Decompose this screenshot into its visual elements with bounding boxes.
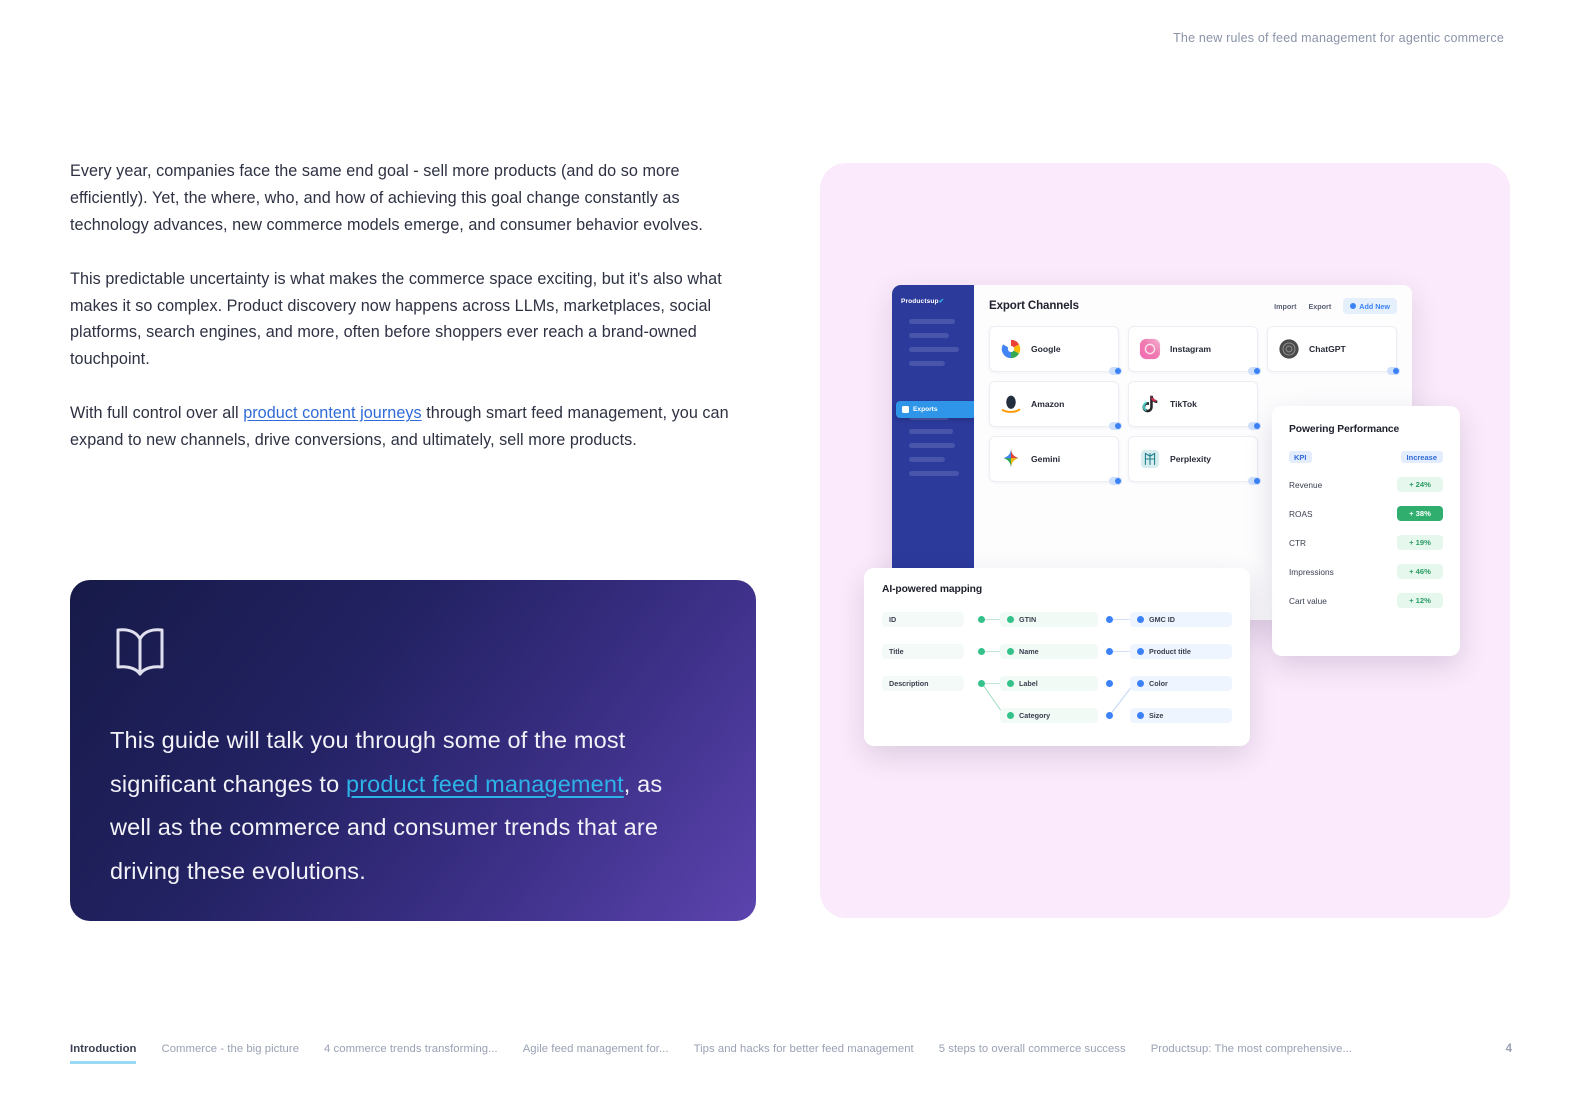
mapping-source-label: Title [889, 647, 904, 656]
performance-row: Cart value + 12% [1289, 593, 1443, 608]
mapping-row: Description Label Color [882, 676, 1232, 691]
mapping-dot-icon [1106, 712, 1113, 719]
channel-toggle[interactable] [1248, 367, 1261, 375]
google-icon [1000, 338, 1022, 360]
mapping-card: AI-powered mapping ID GTIN GMC ID [864, 568, 1250, 746]
paragraph-3-before: With full control over all [70, 404, 243, 422]
mapping-dot-icon [1137, 712, 1144, 719]
exports-icon [902, 406, 909, 413]
mapping-middle: Category [1000, 708, 1098, 723]
mapping-grid: ID GTIN GMC ID Title Name Product title … [882, 612, 1232, 722]
sidebar-nav-stub[interactable] [909, 333, 949, 338]
productsup-logo: Productsup✔ [901, 297, 965, 305]
mapping-target: Size [1130, 708, 1232, 723]
import-button[interactable]: Import [1274, 302, 1296, 311]
mapping-dot-icon [978, 648, 985, 655]
sidebar-nav-stub[interactable] [909, 443, 955, 448]
channel-label: TikTok [1170, 399, 1197, 409]
channel-label: Google [1031, 344, 1061, 354]
channel-card-perplexity[interactable]: Perplexity [1128, 436, 1258, 482]
column-header-kpi: KPI [1289, 451, 1312, 463]
chatgpt-icon [1278, 338, 1300, 360]
metric-label: Revenue [1289, 480, 1322, 490]
paragraph-2: This predictable uncertainty is what mak… [70, 266, 760, 374]
channel-toggle[interactable] [1109, 367, 1122, 375]
channel-card-google[interactable]: Google [989, 326, 1119, 372]
channel-card-gemini[interactable]: Gemini [989, 436, 1119, 482]
metric-label: Cart value [1289, 596, 1327, 606]
channel-label: Gemini [1031, 454, 1060, 464]
paragraph-3: With full control over all product conte… [70, 400, 760, 454]
metric-value-badge: + 46% [1397, 564, 1443, 579]
metric-label: CTR [1289, 538, 1306, 548]
performance-row: CTR + 19% [1289, 535, 1443, 550]
mapping-dot-icon [1106, 648, 1113, 655]
channel-toggle[interactable] [1387, 367, 1400, 375]
bottom-navigation: Introduction Commerce - the big picture … [70, 1043, 1512, 1064]
mapping-dot-icon [1137, 616, 1144, 623]
mapping-row: ID GTIN GMC ID [882, 612, 1232, 627]
nav-tab-commerce-trends[interactable]: 4 commerce trends transforming... [324, 1043, 498, 1061]
sidebar-nav-stub[interactable] [909, 457, 945, 462]
column-header-increase: Increase [1401, 451, 1443, 463]
paragraph-1: Every year, companies face the same end … [70, 158, 760, 239]
mapping-dot-icon [1007, 616, 1014, 623]
channel-label: ChatGPT [1309, 344, 1346, 354]
nav-tab-introduction[interactable]: Introduction [70, 1043, 136, 1064]
guide-callout-card: This guide will talk you through some of… [70, 580, 756, 921]
mapping-source: Description [882, 676, 964, 691]
mapping-dot-icon [978, 616, 985, 623]
plus-icon [1350, 303, 1356, 309]
performance-title: Powering Performance [1289, 424, 1443, 435]
nav-tab-tips-and-hacks[interactable]: Tips and hacks for better feed managemen… [694, 1043, 914, 1061]
mapping-target: Product title [1130, 644, 1232, 659]
dashboard-header: Export Channels Import Export Add New [989, 298, 1397, 314]
mapping-row: Category Size [882, 708, 1232, 723]
callout-text: This guide will talk you through some of… [110, 719, 708, 894]
channel-card-tiktok[interactable]: TikTok [1128, 381, 1258, 427]
mapping-source-label: ID [889, 615, 896, 624]
mapping-target: GMC ID [1130, 612, 1232, 627]
mapping-middle-label: Name [1019, 647, 1039, 656]
mapping-source-label: Description [889, 679, 929, 688]
nav-tab-commerce-big-picture[interactable]: Commerce - the big picture [161, 1043, 299, 1061]
tiktok-icon [1139, 393, 1161, 415]
mapping-middle: Label [1000, 676, 1098, 691]
open-book-icon [112, 626, 168, 678]
mapping-target: Color [1130, 676, 1232, 691]
performance-row: ROAS + 38% [1289, 506, 1443, 521]
channel-label: Instagram [1170, 344, 1211, 354]
mapping-dot-icon [1137, 648, 1144, 655]
nav-tab-productsup[interactable]: Productsup: The most comprehensive... [1151, 1043, 1352, 1061]
channel-toggle[interactable] [1248, 422, 1261, 430]
document-page: The new rules of feed management for age… [0, 0, 1582, 1102]
mapping-dot-icon [1007, 680, 1014, 687]
mapping-target-label: Product title [1149, 647, 1191, 656]
nav-tab-agile-feed-management[interactable]: Agile feed management for... [523, 1043, 669, 1061]
perplexity-icon [1139, 448, 1161, 470]
channel-toggle[interactable] [1109, 477, 1122, 485]
mapping-row: Title Name Product title [882, 644, 1232, 659]
metric-value-badge: + 38% [1397, 506, 1443, 521]
performance-table-header: KPI Increase [1289, 451, 1443, 463]
metric-value-badge: + 12% [1397, 593, 1443, 608]
sidebar-nav-stub[interactable] [909, 319, 955, 324]
mapping-middle-label: GTIN [1019, 615, 1036, 624]
body-text-column: Every year, companies face the same end … [70, 158, 760, 454]
sidebar-nav-stub[interactable] [909, 361, 945, 366]
nav-tab-five-steps[interactable]: 5 steps to overall commerce success [939, 1043, 1126, 1061]
channel-toggle[interactable] [1109, 422, 1122, 430]
mapping-dot-icon [1106, 680, 1113, 687]
illustration-panel: Productsup✔ Exports Export C [820, 163, 1510, 918]
mapping-middle: Name [1000, 644, 1098, 659]
performance-row: Impressions + 46% [1289, 564, 1443, 579]
metric-label: Impressions [1289, 567, 1334, 577]
amazon-icon [1000, 393, 1022, 415]
dashboard-actions: Import Export Add New [1274, 298, 1397, 314]
mapping-connector-lines [882, 612, 1232, 722]
metric-label: ROAS [1289, 509, 1313, 519]
channel-card-chatgpt[interactable]: ChatGPT [1267, 326, 1397, 372]
mapping-dot-icon [1007, 712, 1014, 719]
gemini-icon [1000, 448, 1022, 470]
product-content-journeys-link[interactable]: product content journeys [243, 404, 421, 422]
sidebar-nav-stub[interactable] [909, 429, 953, 434]
channel-label: Perplexity [1170, 454, 1211, 464]
dashboard-title: Export Channels [989, 300, 1079, 312]
channel-card-instagram[interactable]: Instagram [1128, 326, 1258, 372]
export-button[interactable]: Export [1308, 302, 1331, 311]
performance-card: Powering Performance KPI Increase Revenu… [1272, 406, 1460, 656]
mapping-target-label: Size [1149, 711, 1163, 720]
mapping-target-label: GMC ID [1149, 615, 1175, 624]
logo-mark-icon: ✔ [939, 298, 945, 305]
mapping-middle-label: Label [1019, 679, 1038, 688]
channel-toggle[interactable] [1248, 477, 1261, 485]
sidebar-nav-stub[interactable] [909, 347, 959, 352]
add-new-button[interactable]: Add New [1343, 298, 1397, 314]
metric-value-badge: + 24% [1397, 477, 1443, 492]
performance-row: Revenue + 24% [1289, 477, 1443, 492]
mapping-source: Title [882, 644, 964, 659]
mapping-middle-label: Category [1019, 711, 1050, 720]
mapping-dot-icon [1137, 680, 1144, 687]
page-number: 4 [1506, 1043, 1512, 1055]
channel-label: Amazon [1031, 399, 1064, 409]
mapping-middle: GTIN [1000, 612, 1098, 627]
running-header: The new rules of feed management for age… [1173, 31, 1504, 45]
mapping-source: ID [882, 612, 964, 627]
mapping-dot-icon [1106, 616, 1113, 623]
mapping-dot-icon [1007, 648, 1014, 655]
mapping-target-label: Color [1149, 679, 1168, 688]
mapping-dot-icon [978, 680, 985, 687]
metric-value-badge: + 19% [1397, 535, 1443, 550]
product-feed-management-link[interactable]: product feed management [346, 771, 624, 797]
sidebar-item-exports[interactable]: Exports [896, 401, 984, 418]
sidebar-nav-stub[interactable] [909, 471, 959, 476]
mapping-title: AI-powered mapping [882, 584, 1232, 595]
channel-card-amazon[interactable]: Amazon [989, 381, 1119, 427]
instagram-icon [1139, 338, 1161, 360]
